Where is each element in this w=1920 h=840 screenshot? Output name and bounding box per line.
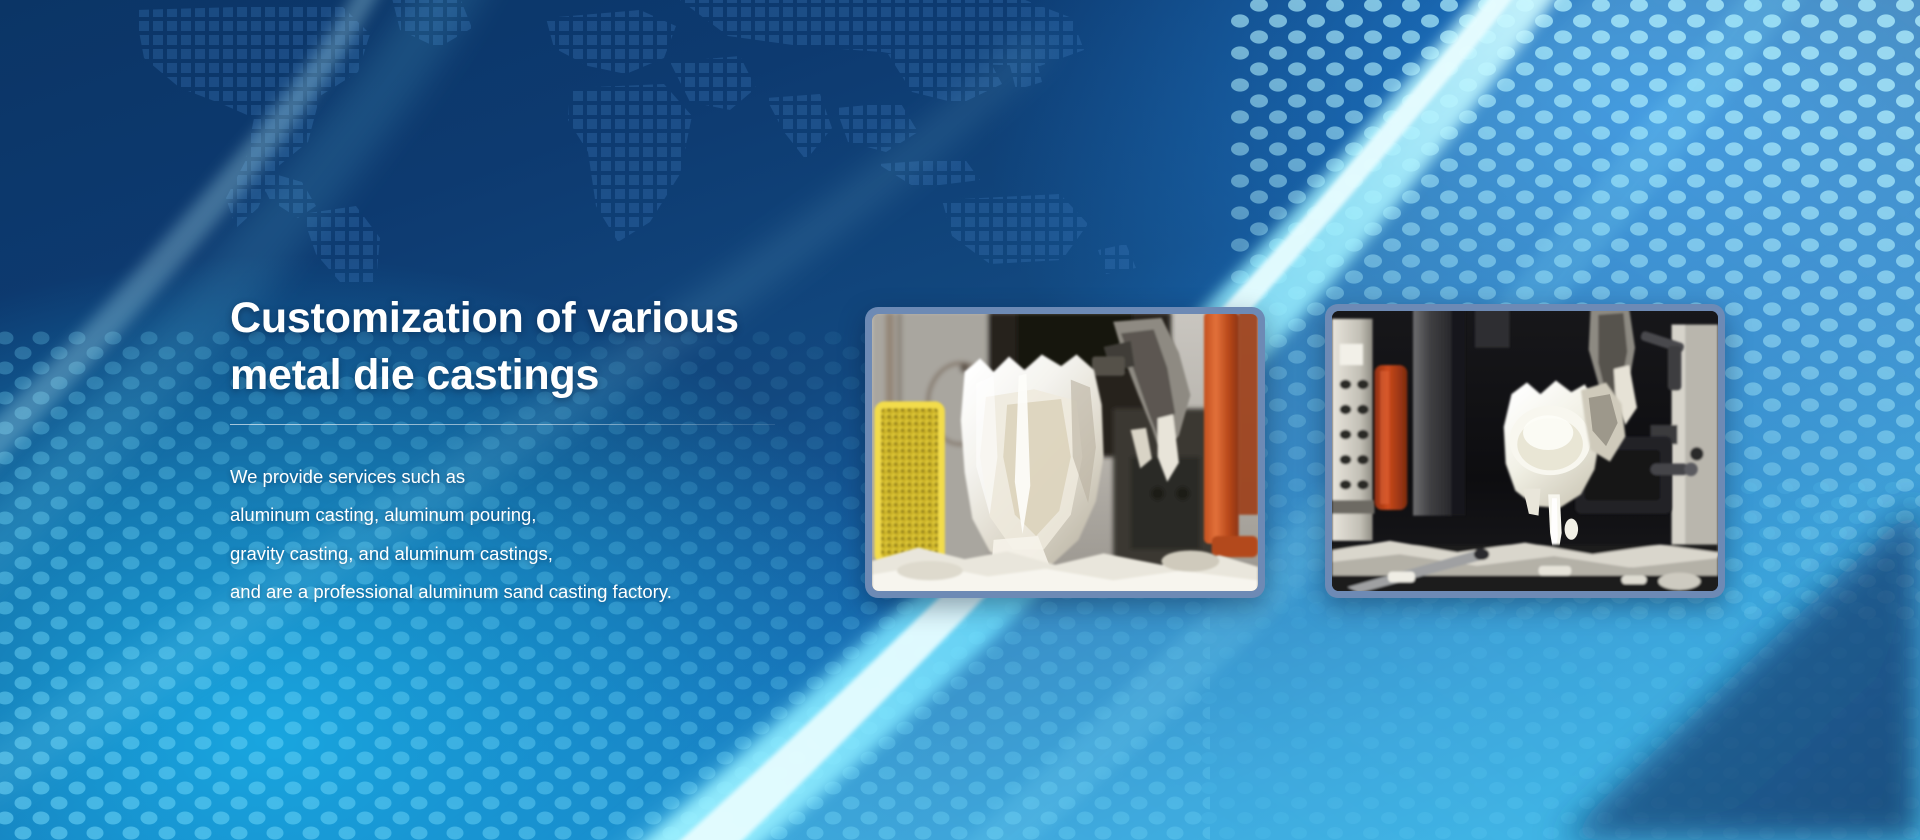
description-line-1: We provide services such as bbox=[230, 458, 850, 496]
description-line-2: aluminum casting, aluminum pouring, bbox=[230, 496, 850, 534]
aluminum-ladle-photo[interactable] bbox=[865, 307, 1265, 598]
world-map-pattern bbox=[40, 0, 1160, 282]
title-divider bbox=[230, 424, 775, 425]
aluminum-pouring-photo[interactable] bbox=[1325, 304, 1725, 598]
banner-description: We provide services such as aluminum cas… bbox=[230, 458, 850, 610]
description-line-3: gravity casting, and aluminum castings, bbox=[230, 535, 850, 573]
page-title: Customization of various metal die casti… bbox=[230, 290, 850, 404]
description-line-4: and are a professional aluminum sand cas… bbox=[230, 573, 850, 611]
promo-banner: Customization of various metal die casti… bbox=[0, 0, 1920, 840]
aluminum-ladle-photo-image bbox=[872, 314, 1258, 591]
banner-copy: Customization of various metal die casti… bbox=[230, 290, 850, 611]
aluminum-pouring-photo-image bbox=[1332, 311, 1718, 591]
